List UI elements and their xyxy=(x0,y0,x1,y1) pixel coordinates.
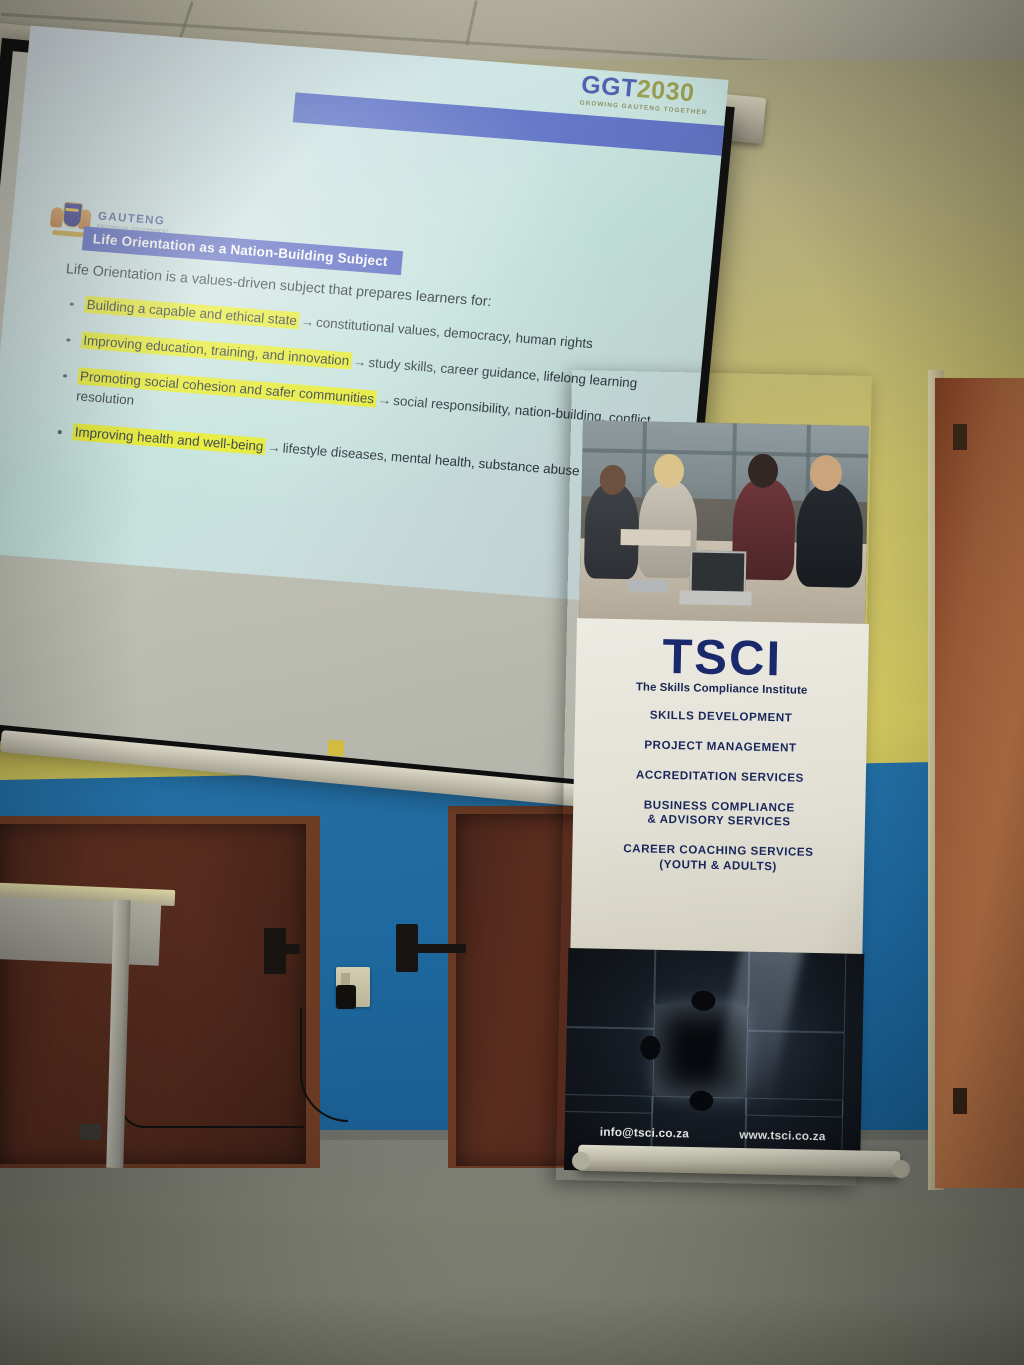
bullet-arrow-icon: → xyxy=(350,353,369,369)
doorway-hinge xyxy=(953,424,967,450)
left-door-latch xyxy=(272,944,300,954)
banner-meeting-photo xyxy=(579,420,869,631)
right-door-latch xyxy=(404,944,466,953)
bullet-rest: lifestyle diseases, mental health, subst… xyxy=(282,441,580,479)
bullet-highlight: Improving health and well-being xyxy=(72,423,266,455)
ggt-suffix: 2030 xyxy=(636,75,696,107)
banner-service-1: SKILLS DEVELOPMENT xyxy=(575,707,867,728)
photo-tablet xyxy=(628,579,668,592)
bullet-rest: constitutional values, democracy, human … xyxy=(316,314,594,350)
tsci-rollup-banner: TSCI The Skills Compliance Institute SKI… xyxy=(556,370,872,1186)
power-plug[interactable] xyxy=(336,985,356,1009)
photo-paper xyxy=(620,529,690,546)
doorway-hinge xyxy=(953,1088,967,1114)
coa-supporter-left xyxy=(50,207,64,228)
photo-person xyxy=(796,483,864,588)
tsci-acronym: TSCI xyxy=(576,632,869,685)
bullet-arrow-icon: → xyxy=(298,313,317,329)
screen-clip xyxy=(327,739,344,756)
banner-foot xyxy=(572,1152,590,1170)
banner-service-2: PROJECT MANAGEMENT xyxy=(574,737,866,758)
bullet-highlight: Improving education, training, and innov… xyxy=(81,331,352,369)
banner-service-3: ACCREDITATION SERVICES xyxy=(574,767,866,788)
ggt-prefix: GGT xyxy=(580,71,638,103)
presentation-room-scene: GGT2030 GROWING GAUTENG TOGETHER GAUTENG… xyxy=(0,0,1024,1365)
power-cable xyxy=(120,1104,304,1128)
photo-laptop-base xyxy=(679,590,751,605)
bullet-arrow-icon: → xyxy=(375,392,394,408)
table-apron xyxy=(0,896,161,965)
banner-service-5: CAREER COACHING SERVICES (YOUTH & ADULTS… xyxy=(572,841,865,877)
banner-website[interactable]: www.tsci.co.za xyxy=(739,1128,826,1144)
ggt2030-logo: GGT2030 GROWING GAUTENG TOGETHER xyxy=(579,73,710,117)
tsci-logo: TSCI The Skills Compliance Institute xyxy=(576,632,869,698)
bullet-highlight: Building a capable and ethical state xyxy=(84,295,300,329)
coa-base xyxy=(52,230,86,238)
banner-text-panel: TSCI The Skills Compliance Institute SKI… xyxy=(570,618,869,959)
banner-service-4: BUSINESS COMPLIANCE & ADVISORY SERVICES xyxy=(573,797,866,833)
banner-foot xyxy=(892,1160,910,1178)
bullet-arrow-icon: → xyxy=(265,439,284,455)
puzzle-piece xyxy=(564,948,657,1030)
open-doorway-door[interactable] xyxy=(935,378,1024,1188)
banner-puzzle-panel: info@tsci.co.za www.tsci.co.za xyxy=(564,948,864,1176)
table-foot xyxy=(79,1124,101,1140)
banner-email[interactable]: info@tsci.co.za xyxy=(600,1125,689,1141)
